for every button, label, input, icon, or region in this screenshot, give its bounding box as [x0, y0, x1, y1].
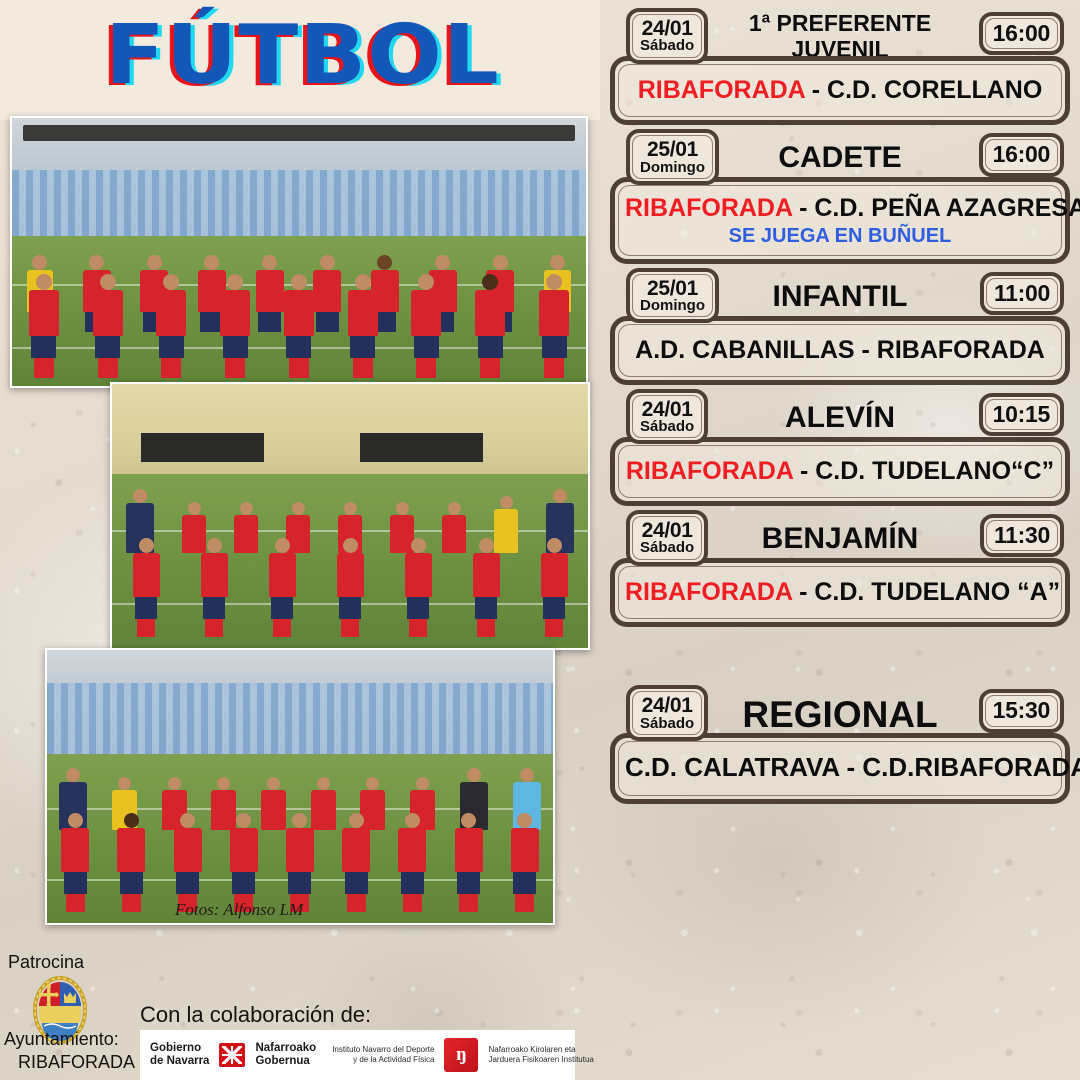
player [405, 538, 432, 637]
instituto-navarro-deporte-label: Instituto Navarro del Deporte y de la Ac… [332, 1045, 434, 1064]
match-weekday: Sábado [640, 716, 694, 731]
poster-root: FÚTBOL [0, 0, 1080, 1080]
alevin-team-photo [110, 382, 590, 650]
match-category: BENJAMÍN [762, 524, 919, 554]
player [455, 813, 483, 912]
match-venue-note: SE JUEGA EN BUÑUEL [625, 226, 1055, 247]
match-teams: RIBAFORADA - C.D. TUDELANO“C” [625, 458, 1055, 484]
match-teams: RIBAFORADA - C.D. CORELLANO [625, 77, 1055, 103]
match-row-cadete[interactable]: 25/01 Domingo CADETE 16:00 RIBAFORADA - … [610, 127, 1070, 263]
match-time-badge: 11:30 [980, 514, 1064, 557]
match-row-infantil[interactable]: 25/01 Domingo INFANTIL 11:00 A.D. CABANI… [610, 266, 1070, 385]
player [61, 813, 89, 912]
player [473, 538, 500, 637]
match-category: INFANTIL [773, 282, 908, 312]
match-time: 10:15 [993, 403, 1050, 426]
photo2-front-row [112, 521, 588, 637]
match-separator: - [855, 336, 877, 364]
photo2-banner [360, 433, 484, 462]
match-time-badge: 11:00 [980, 272, 1064, 315]
photo2-banner [141, 433, 265, 462]
player [541, 538, 568, 637]
match-time: 16:00 [993, 143, 1050, 166]
match-away-team: RIBAFORADA [877, 336, 1045, 364]
match-time: 11:30 [994, 524, 1050, 547]
player [133, 538, 160, 637]
player [269, 538, 296, 637]
player [539, 274, 569, 378]
match-away-team: C.D. CORELLANO [827, 76, 1042, 104]
match-schedule-list: 24/01 Sábado 1ª PREFERENTE JUVENIL 16:00 [600, 0, 1080, 1080]
match-row-benjamin[interactable]: 24/01 Sábado BENJAMÍN 11:30 RIBAFORADA -… [610, 508, 1070, 627]
match-weekday: Sábado [640, 38, 694, 53]
match-category: ALEVÍN [785, 403, 895, 433]
match-teams-box: RIBAFORADA - C.D. CORELLANO [610, 56, 1070, 125]
match-date: 25/01 [640, 139, 705, 160]
match-date-badge: 24/01 Sábado [626, 8, 708, 64]
player [201, 538, 228, 637]
match-away-team: C.D. TUDELANO “A” [814, 578, 1060, 606]
match-date-badge: 25/01 Domingo [626, 268, 719, 324]
match-time: 15:30 [993, 699, 1050, 722]
player [511, 813, 539, 912]
match-home-team: RIBAFORADA [626, 457, 793, 485]
match-weekday: Domingo [640, 298, 705, 313]
navarra-crest-icon [219, 1043, 245, 1067]
match-time-badge: 16:00 [979, 12, 1064, 55]
match-teams-box: RIBAFORADA - C.D. TUDELANO“C” [610, 437, 1070, 506]
photo3-front-row [47, 792, 553, 912]
player [284, 274, 314, 378]
match-row-juvenil[interactable]: 24/01 Sábado 1ª PREFERENTE JUVENIL 16:00 [610, 6, 1070, 125]
match-teams: RIBAFORADA - C.D. PEÑA AZAGRESA [625, 195, 1055, 221]
match-separator: - [792, 578, 814, 606]
nafarroako-gobernua-label: Nafarroako Gobernua [255, 1042, 316, 1068]
match-weekday: Sábado [640, 540, 694, 555]
match-time-badge: 16:00 [979, 133, 1064, 176]
gobierno-navarra-label: Gobierno de Navarra [150, 1042, 209, 1068]
match-row-alevin[interactable]: 24/01 Sábado ALEVÍN 10:15 RIBAFORADA - C… [610, 387, 1070, 506]
match-date-badge: 24/01 Sábado [626, 510, 708, 566]
match-time-badge: 10:15 [979, 393, 1064, 436]
ayuntamiento-name: RIBAFORADA [18, 1052, 135, 1073]
match-date-badge: 24/01 Sábado [626, 685, 708, 741]
match-time: 11:00 [994, 282, 1050, 305]
photo1-front-row [12, 260, 586, 378]
match-home-team: C.D. CALATRAVA [625, 752, 839, 782]
match-date: 24/01 [640, 520, 694, 541]
match-away-team: C.D. PEÑA AZAGRESA [814, 194, 1080, 222]
match-separator: - [839, 752, 862, 782]
match-date: 25/01 [640, 278, 705, 299]
instituto-deporte-logo-icon: ŋ [444, 1038, 478, 1072]
match-category: REGIONAL [742, 696, 937, 733]
player [348, 274, 378, 378]
player [475, 274, 505, 378]
match-teams: A.D. CABANILLAS - RIBAFORADA [625, 337, 1055, 363]
player [93, 274, 123, 378]
player [174, 813, 202, 912]
match-teams-box: A.D. CABANILLAS - RIBAFORADA [610, 316, 1070, 385]
photo-credit: Fotos: Alfonso LM [175, 900, 303, 920]
match-teams: RIBAFORADA - C.D. TUDELANO “A” [625, 579, 1055, 605]
page-title: FÚTBOL [105, 8, 500, 103]
match-date: 24/01 [640, 18, 694, 39]
player [29, 274, 59, 378]
player [398, 813, 426, 912]
collaboration-label: Con la colaboración de: [140, 1002, 371, 1028]
match-category-line1: 1ª PREFERENTE [749, 11, 931, 37]
match-time-badge: 15:30 [979, 689, 1064, 732]
match-teams: C.D. CALATRAVA - C.D.RIBAFORADA [625, 754, 1055, 781]
photo1-roof [23, 125, 574, 141]
match-away-team: C.D.RIBAFORADA [862, 752, 1080, 782]
match-home-team: RIBAFORADA [625, 578, 792, 606]
left-column: FÚTBOL [0, 0, 600, 1080]
photo1-stand [12, 118, 586, 241]
match-row-regional[interactable]: 24/01 Sábado REGIONAL 15:30 C.D. CALATRA… [610, 683, 1070, 803]
player [411, 274, 441, 378]
ayuntamiento-label: Ayuntamiento: [4, 1029, 119, 1050]
match-date: 24/01 [640, 399, 694, 420]
player [220, 274, 250, 378]
match-separator: - [793, 457, 815, 485]
player [156, 274, 186, 378]
match-home-team: RIBAFORADA [625, 194, 792, 222]
match-separator: - [792, 194, 814, 222]
player [230, 813, 258, 912]
player [337, 538, 364, 637]
juvenil-team-photo [10, 116, 588, 388]
photo1-seats [12, 170, 586, 241]
match-category: CADETE [778, 143, 901, 173]
match-weekday: Domingo [640, 160, 705, 175]
match-teams-box: C.D. CALATRAVA - C.D.RIBAFORADA [610, 733, 1070, 803]
match-away-team: C.D. TUDELANO“C” [815, 457, 1054, 485]
match-teams-box: RIBAFORADA - C.D. PEÑA AZAGRESA SE JUEGA… [610, 177, 1070, 263]
match-home-team: RIBAFORADA [638, 76, 805, 104]
match-teams-box: RIBAFORADA - C.D. TUDELANO “A” [610, 558, 1070, 627]
match-separator: - [805, 76, 827, 104]
player [342, 813, 370, 912]
infantil-team-photo [45, 648, 555, 925]
sponsor-bar: Gobierno de Navarra Nafarroako Gobernua … [140, 1030, 575, 1080]
match-date-badge: 25/01 Domingo [626, 129, 719, 185]
match-date: 24/01 [640, 695, 694, 716]
match-weekday: Sábado [640, 419, 694, 434]
player [117, 813, 145, 912]
player [286, 813, 314, 912]
match-date-badge: 24/01 Sábado [626, 389, 708, 445]
patrocina-label: Patrocina [8, 952, 84, 973]
match-home-team: A.D. CABANILLAS [635, 336, 854, 364]
nafarroako-kirolaren-label: Nafarroako Kirolaren eta Jarduera Fisiko… [488, 1045, 593, 1064]
match-time: 16:00 [993, 22, 1050, 45]
